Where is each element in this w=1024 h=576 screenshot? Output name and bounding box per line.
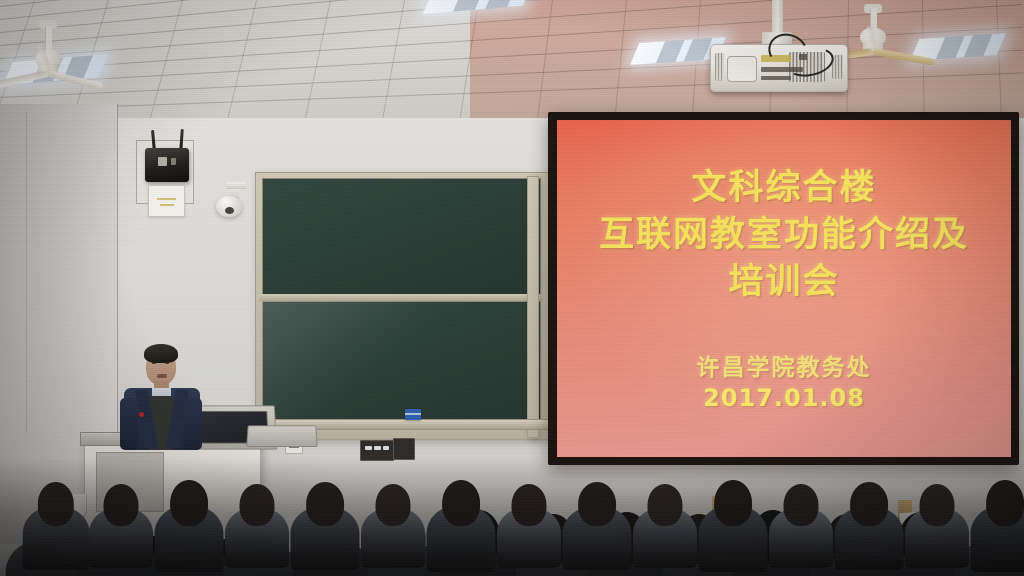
blackboard-right-rail	[527, 176, 539, 438]
audience-member-head	[442, 480, 480, 526]
audience-member	[640, 464, 690, 576]
chalk-box	[405, 409, 421, 420]
audience-member	[368, 464, 418, 576]
audience-member-head	[306, 482, 344, 526]
audience-member	[504, 464, 554, 576]
audience-member	[30, 462, 82, 576]
ceiling-fan	[8, 24, 88, 90]
audience-member-head	[648, 484, 683, 526]
audience-member	[232, 464, 282, 576]
blackboard-panel-upper	[262, 178, 541, 297]
audience-member-head	[578, 482, 616, 526]
audience-member-head	[920, 484, 955, 526]
audience-member-head	[850, 482, 888, 526]
audience-member	[776, 464, 826, 576]
slide-title-line-1: 文科综合楼	[557, 166, 1011, 210]
blackboard-panel-lower	[262, 301, 541, 421]
audience-member-head	[104, 484, 139, 526]
slide-subtitle: 许昌学院教务处	[557, 348, 1011, 382]
audience-member	[162, 460, 216, 576]
audience-member-head	[240, 484, 275, 526]
slide-title-line-3: 培训会	[557, 260, 1011, 304]
projector-ceiling-mount	[772, 0, 783, 34]
audience-member	[298, 462, 352, 576]
audience-member	[570, 462, 624, 576]
wall-corner-edge	[26, 112, 27, 432]
presenter-hair	[144, 344, 178, 363]
slide-title-line-2: 互联网教室功能介绍及	[557, 213, 1011, 257]
wireless-access-point	[145, 148, 189, 182]
audience-member-head	[512, 484, 547, 526]
audience-member	[842, 462, 896, 576]
audience-member-head	[714, 480, 752, 526]
audience-member	[978, 460, 1024, 576]
camera-mount-arm	[226, 182, 246, 189]
audience-member-head	[986, 480, 1024, 526]
ceiling-tile-line	[225, 0, 257, 122]
dome-security-camera	[216, 196, 242, 217]
audience-member	[96, 464, 146, 576]
audience-member	[434, 460, 488, 576]
wall-sign-note	[148, 185, 185, 217]
audience-member-head	[784, 484, 819, 526]
presenter-badge-pin	[139, 412, 144, 417]
audience-member	[706, 460, 760, 576]
lecture-hall-photo: 文科综合楼 互联网教室功能介绍及 培训会 许昌学院教务处 2017.01.08	[0, 0, 1024, 576]
audience	[0, 426, 1024, 576]
audience-member-head	[376, 484, 411, 526]
slide-date: 2017.01.08	[557, 384, 1011, 412]
audience-member-head	[170, 480, 208, 526]
audience-member	[912, 464, 962, 576]
audience-member-head	[38, 482, 74, 526]
blackboard-divider	[259, 294, 542, 301]
projection-screen: 文科综合楼 互联网教室功能介绍及 培训会 许昌学院教务处 2017.01.08	[557, 120, 1011, 457]
